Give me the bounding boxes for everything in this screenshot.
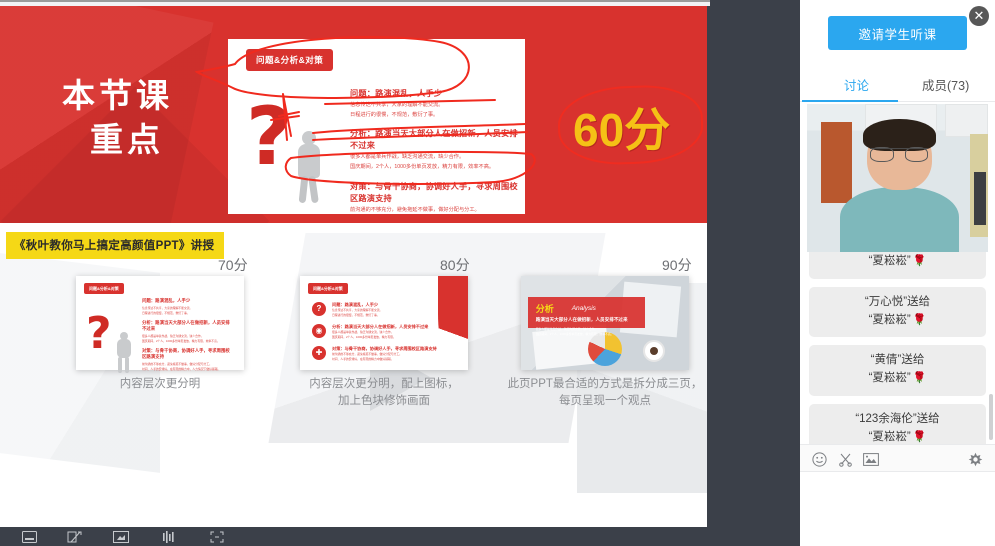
course-banner: 《秋叶教你马上搞定高颜值PPT》讲授 [6, 232, 224, 259]
chat-message-3-line1: “123余海伦”送给 [855, 413, 939, 425]
example-score-2: 90分 [662, 255, 692, 275]
whiteboard-icon[interactable] [18, 529, 40, 545]
inner-ppt-card: 问题&分析&对策 ? 问题：路演混乱，人手少 信息传达不共享，大家的理解不能交流… [228, 39, 525, 214]
chat-scrollbar[interactable] [989, 394, 993, 440]
slide-title-line1: 本节课 [62, 77, 173, 114]
inner-row-sub-1: 很多人都是单兵作战，缺乏沟通交流，缺少合作。国庆期间，2个人，1000多份单页发… [350, 153, 518, 172]
presenter-toolbar [0, 527, 800, 546]
chat-message-2-line2: “夏崧崧” [869, 372, 911, 384]
right-side-panel: 邀请学生听课 讨论 成员(73) “夏崧崧”🌹 “万心悦”送给 “夏崧崧”🌹 “… [800, 0, 995, 546]
chat-message-1-line1: “万心悦”送给 [865, 296, 930, 308]
tab-discussion[interactable]: 讨论 [844, 75, 869, 94]
rose-icon: 🌹 [913, 370, 927, 387]
emoji-icon[interactable] [810, 450, 828, 468]
audio-levels-icon[interactable] [158, 529, 180, 545]
image-icon[interactable] [862, 450, 880, 468]
mini3-band: 分析 Analysis 路演当天大部分人在做招新，人员安排不过来 很多人都是单兵… [528, 297, 646, 328]
mini1-head-0: 问题：路演混乱，人手少 [142, 298, 230, 304]
mini3-band-title: 分析 [536, 302, 554, 315]
chat-message-1: “万心悦”送给 “夏崧崧”🌹 [809, 287, 986, 338]
mini2-icon-0: ? [312, 302, 326, 316]
app-root: 本节课 重点 问题&分析&对策 ? 问题：路演混乱，人手少 信息传达不共享，大家… [0, 0, 995, 546]
chat-composer-toolbar [800, 444, 995, 472]
chat-message-2: “黄倩”送给 “夏崧崧”🌹 [809, 345, 986, 396]
teacher-video-feed[interactable] [807, 104, 988, 252]
inner-card-tag: 问题&分析&对策 [246, 49, 333, 71]
mini2-sub-1: 很多人都是单兵作战，缺乏沟通交流，缺少合作。国庆期间，2个人，1000多份单页发… [332, 330, 440, 340]
example-caption-2: 此页PPT最合适的方式是拆分成三页，每页呈现一个观点 [505, 376, 705, 411]
mini2-sub-2: 前沟通的不够充分，避免拖延不做事，做好分配与分工。时间、人手的安排好，在有限的精… [332, 352, 440, 362]
mini2-tag: 问题&分析&对策 [308, 283, 348, 294]
fullscreen-icon[interactable] [206, 529, 228, 545]
invite-area: 邀请学生听课 [800, 0, 995, 66]
inner-row-head-2: 对策：与骨干协商，协调好人手，寻求周围校区路演支持 [350, 180, 518, 204]
example-caption-1: 内容层次更分明，配上图标，加上色块修饰画面 [284, 376, 484, 411]
chat-message-2-line1: “黄倩”送给 [871, 354, 925, 366]
example-thumbnail-2[interactable]: 分析 Analysis 路演当天大部分人在做招新，人员安排不过来 很多人都是单兵… [521, 276, 689, 370]
scissors-icon[interactable] [836, 450, 854, 468]
chat-message-3: “123余海伦”送给 “夏崧崧”🌹 [809, 404, 986, 444]
chat-message-1-line2: “夏崧崧” [869, 314, 911, 326]
example-thumbnail-0[interactable]: 问题&分析&对策 ? 问题：路演混乱，人手少 信息传达不共享，大家的理解不能交流… [76, 276, 244, 370]
annotate-pen-icon[interactable] [64, 529, 86, 545]
inner-row-sub-0: 信息传达不共享，大家的理解不能交流。日程进行的很慢，不规范，敷衍了事。 [350, 101, 518, 120]
close-video-icon[interactable]: ✕ [969, 6, 989, 26]
rose-icon: 🌹 [913, 312, 927, 329]
mini1-head-2: 对策：与骨干协商，协调好人手，寻求周围校区路演支持 [142, 348, 230, 360]
mini2-sub-0: 信息传达不共享，大家的理解不能交流。日程进行的很慢，不规范，敷衍了事。 [332, 308, 440, 318]
mini2-icon-2: ✚ [312, 346, 326, 360]
present-screen-icon[interactable] [110, 529, 132, 545]
mini3-band-sub: 路演当天大部分人在做招新，人员安排不过来 [536, 317, 628, 323]
mini1-sub-2: 前沟通的不够充分，避免拖延不做事，做好分配与分工。时间、人手的安排好，在有限的精… [142, 362, 230, 373]
mini3-band-en: Analysis [572, 305, 596, 312]
slide-canvas[interactable]: 本节课 重点 问题&分析&对策 ? 问题：路演混乱，人手少 信息传达不共享，大家… [0, 6, 707, 527]
mini1-tag: 问题&分析&对策 [84, 283, 124, 294]
rose-icon: 🌹 [913, 429, 927, 444]
panel-tabs: 讨论 成员(73) [800, 70, 995, 102]
slide-red-band: 本节课 重点 问题&分析&对策 ? 问题：路演混乱，人手少 信息传达不共享，大家… [0, 6, 707, 223]
chat-message-3-line2: “夏崧崧” [869, 431, 911, 443]
active-tab-underline [802, 100, 898, 102]
inner-row-head-0: 问题：路演混乱，人手少 [350, 87, 518, 99]
question-mark-illustration: ? [246, 101, 342, 206]
mini1-sub-1: 很多人都是单兵作战，缺乏沟通交流，缺少合作。国庆期间，2个人，1000多份单页发… [142, 334, 230, 345]
example-caption-0: 内容层次更分明 [60, 376, 260, 393]
tab-members[interactable]: 成员(73) [922, 75, 969, 94]
rose-icon: 🌹 [913, 253, 927, 270]
mini1-head-1: 分析：路演当天大部分人在做招新，人员安排不过来 [142, 320, 230, 332]
invite-students-button[interactable]: 邀请学生听课 [828, 16, 967, 50]
chat-message-0-line2: “夏崧崧” [869, 255, 911, 267]
mini1-sub-0: 信息传达不共享，大家的理解不能交流。日程进行的很慢，不规范，敷衍了事。 [142, 306, 230, 317]
mini2-icon-1: ◉ [312, 324, 326, 338]
slide-lower-area: 《秋叶教你马上搞定高颜值PPT》讲授 70分 80分 90分 问题&分析&对策 … [0, 223, 707, 527]
chat-input-area[interactable] [800, 472, 995, 546]
inner-row-head-1: 分析：路演当天大部分人在做招新，人员安排不过来 [350, 127, 518, 151]
inner-row-sub-2: 前沟通的不够充分，避免拖延不做事，做好分配与分工。时间、人手的安排好，在有限的精… [350, 206, 518, 215]
example-thumbnail-1[interactable]: 问题&分析&对策 ? 问题：路演混乱，人手少 信息传达不共享，大家的理解不能交流… [300, 276, 468, 370]
settings-gear-icon[interactable] [966, 450, 984, 468]
example-score-1: 80分 [440, 255, 470, 275]
mini3-band-body: 很多人都是单兵作战，缺乏沟通交流，缺少合作。国庆期间，2个人，1000多份单页发… [536, 327, 637, 338]
example-score-0: 70分 [218, 255, 248, 275]
inner-card-text: 问题：路演混乱，人手少 信息传达不共享，大家的理解不能交流。日程进行的很慢，不规… [350, 87, 518, 214]
